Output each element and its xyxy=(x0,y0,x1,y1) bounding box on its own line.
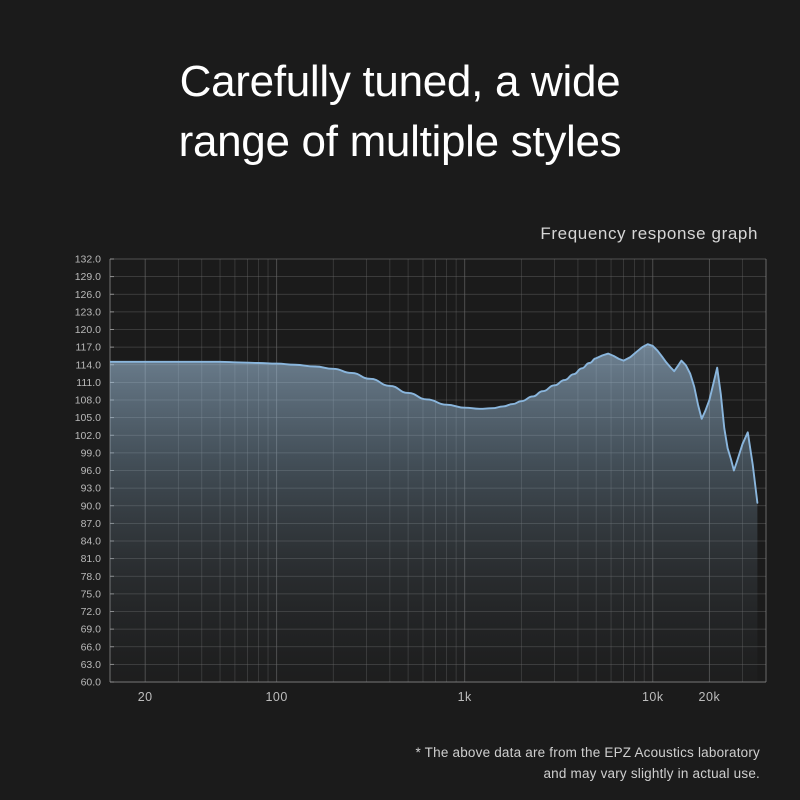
page-title-line-1: Carefully tuned, a wide xyxy=(80,52,720,112)
chart-footnote-line-2: and may vary slightly in actual use. xyxy=(240,763,760,784)
y-axis-tick-label: 87.0 xyxy=(81,518,102,530)
y-axis-tick-label: 60.0 xyxy=(81,677,102,689)
y-axis-tick-labels: 132.0129.0126.0123.0120.0117.0114.0111.0… xyxy=(75,254,114,689)
y-axis-tick-label: 72.0 xyxy=(81,606,102,618)
y-axis-tick-label: 63.0 xyxy=(81,659,102,671)
y-axis-tick-label: 96.0 xyxy=(81,465,102,477)
y-axis-tick-label: 93.0 xyxy=(81,483,102,495)
y-axis-tick-label: 69.0 xyxy=(81,624,102,636)
chart-title: Frequency response graph xyxy=(540,224,758,244)
x-axis-tick-label: 10k xyxy=(642,690,664,704)
response-curve-fill xyxy=(110,344,757,682)
frequency-response-promo-page: Carefully tuned, a wide range of multipl… xyxy=(0,0,800,800)
y-axis-tick-label: 120.0 xyxy=(75,324,101,336)
chart-gridlines xyxy=(110,259,766,682)
x-axis-tick-label: 20k xyxy=(699,690,721,704)
y-axis-tick-label: 114.0 xyxy=(76,359,102,371)
y-axis-tick-label: 78.0 xyxy=(81,571,102,583)
y-axis-tick-label: 105.0 xyxy=(75,412,101,424)
y-axis-tick-label: 129.0 xyxy=(75,271,101,283)
y-axis-tick-label: 126.0 xyxy=(75,289,101,301)
x-axis-tick-label: 100 xyxy=(265,690,287,704)
y-axis-tick-label: 90.0 xyxy=(81,500,102,512)
y-axis-tick-label: 132.0 xyxy=(75,254,101,266)
y-axis-tick-label: 102.0 xyxy=(75,430,101,442)
x-axis-tick-label: 20 xyxy=(138,690,153,704)
y-axis-tick-label: 81.0 xyxy=(81,553,102,565)
y-axis-tick-label: 66.0 xyxy=(81,641,102,653)
y-axis-tick-label: 99.0 xyxy=(81,447,102,459)
y-axis-tick-label: 84.0 xyxy=(81,536,102,548)
response-curve-line xyxy=(110,344,757,503)
y-axis-tick-label: 111.0 xyxy=(76,377,101,389)
y-axis-tick-label: 117.0 xyxy=(76,342,102,354)
page-title: Carefully tuned, a wide range of multipl… xyxy=(0,52,800,172)
y-axis-tick-label: 108.0 xyxy=(75,395,101,407)
y-axis-tick-label: 123.0 xyxy=(75,306,101,318)
x-axis-tick-label: 1k xyxy=(458,690,472,704)
x-axis-tick-labels: 201001k10k20k xyxy=(138,690,721,704)
page-title-line-2: range of multiple styles xyxy=(80,112,720,172)
y-axis-tick-label: 75.0 xyxy=(81,588,102,600)
chart-footnote-line-1: * The above data are from the EPZ Acoust… xyxy=(240,742,760,763)
chart-footnote: * The above data are from the EPZ Acoust… xyxy=(240,742,760,784)
